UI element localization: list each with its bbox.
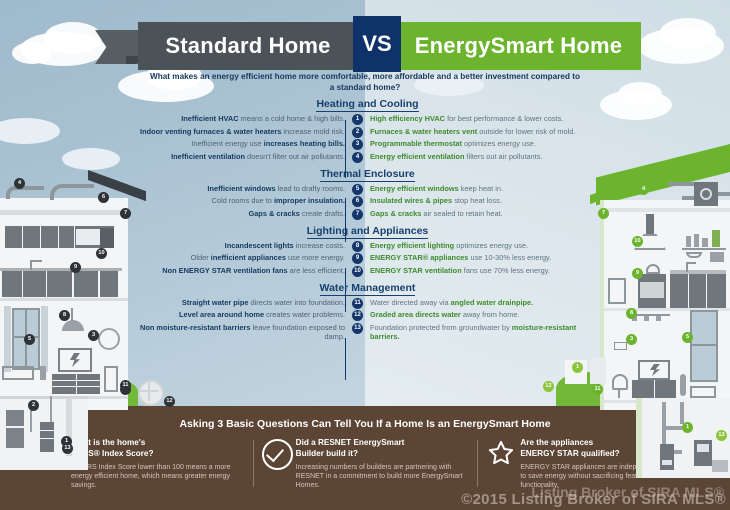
questions-title: Asking 3 Basic Questions Can Tell You If… (0, 410, 730, 430)
energysmart-home-basement: 1 (636, 398, 730, 490)
badge-13: 13 (716, 430, 727, 441)
standard-text: Indoor venting furnaces & water heaters … (140, 127, 351, 136)
energysmart-text: Water directed away via angled water dra… (364, 298, 595, 307)
question-line-1: Did a RESNET EnergySmart (296, 438, 469, 449)
standard-home-bar: Standard Home (138, 22, 358, 70)
small-house-icon (590, 358, 606, 384)
section-thermal-enclosure: Thermal Enclosure Inefficient windows le… (140, 168, 595, 220)
comparison-row: Indoor venting furnaces & water heaters … (140, 127, 595, 138)
badge-11: 11 (592, 384, 603, 395)
star-icon (486, 438, 520, 491)
badge-1: 1 (572, 362, 583, 373)
comparison-row: Inefficient HVAC means a cold home & hig… (140, 114, 595, 125)
standard-text: Straight water pipe directs water into f… (140, 298, 351, 307)
energysmart-home-illustration: 4 7 10 9 8 3 5 11 (590, 170, 730, 410)
standard-home-illustration: 4 6 7 10 9 8 3 5 11 (0, 170, 140, 410)
comparison-row: Non moisture-resistant barriers leave fo… (140, 323, 595, 342)
row-number-badge: 5 (351, 184, 364, 195)
standard-text: Inefficient HVAC means a cold home & hig… (140, 114, 351, 123)
energysmart-text: Energy efficient windows keep heat in. (364, 184, 595, 193)
row-number-badge: 9 (351, 253, 364, 264)
energysmart-text: Graded area directs water away from home… (364, 310, 595, 319)
section-water-management: Water Management Straight water pipe dir… (140, 282, 595, 342)
banner-subtitle: What makes an energy efficient home more… (150, 72, 580, 93)
badge-4: 4 (14, 178, 25, 189)
energysmart-text: ENERGY STAR ventilation fans use 70% les… (364, 266, 595, 275)
question-heading: What is the home's HERS® Index Score? (71, 438, 244, 459)
comparison-row: Cold rooms due to improper insulation. 6… (140, 196, 595, 207)
question-line-2: Builder build it? (296, 449, 469, 460)
row-number-badge: 10 (351, 266, 364, 277)
cloud-icon (62, 148, 120, 170)
energysmart-home-bar: EnergySmart Home (396, 22, 641, 70)
comparison-row: Inefficient ventilation doesn't filter o… (140, 152, 595, 163)
comparison-row: Level area around home creates water pro… (140, 310, 595, 321)
comparison-row: Incandescent lights increase costs. 8 En… (140, 241, 595, 252)
comparison-row: Inefficient windows lead to drafty rooms… (140, 184, 595, 195)
energysmart-home-label: EnergySmart Home (396, 22, 641, 70)
title-banner: Standard Home EnergySmart Home VS (95, 22, 640, 70)
energysmart-text: Furnaces & water heaters vent outside fo… (364, 127, 595, 136)
badge-8: 8 (626, 308, 637, 319)
standard-text: Inefficient energy use increases heating… (140, 139, 351, 148)
badge-9: 9 (70, 262, 81, 273)
question-heading: Did a RESNET EnergySmart Builder build i… (296, 438, 469, 459)
standard-text: Non moisture-resistant barriers leave fo… (140, 323, 351, 342)
drain-grate-line (148, 381, 150, 401)
badge-7: 7 (598, 208, 609, 219)
energysmart-text: Programmable thermostat optimizes energy… (364, 139, 595, 148)
badge-12: 12 (543, 381, 554, 392)
badge-8: 8 (59, 310, 70, 321)
standard-home-basement: 2 1 (0, 390, 95, 480)
badge-5: 5 (24, 334, 35, 345)
standard-text: Level area around home creates water pro… (140, 310, 351, 319)
energysmart-text: Foundation protected from groundwater by… (364, 323, 595, 342)
questions-columns: 65 What is the home's HERS® Index Score?… (0, 438, 730, 491)
section-heading: Water Management (140, 282, 595, 295)
vs-label: VS (353, 16, 401, 72)
badge-13: 13 (62, 443, 73, 454)
badge-4: 4 (638, 184, 649, 195)
row-number-badge: 2 (351, 127, 364, 138)
infographic-root: Standard Home EnergySmart Home VS What m… (0, 0, 730, 510)
comparison-row: Non ENERGY STAR ventilation fans are les… (140, 266, 595, 277)
row-number-badge: 3 (351, 139, 364, 150)
badge-2: 2 (28, 400, 39, 411)
standard-text: Inefficient windows lead to drafty rooms… (140, 184, 351, 193)
row-number-badge: 12 (351, 310, 364, 321)
question-card-text: What is the home's HERS® Index Score? A … (71, 438, 244, 491)
watermark: ©2015 Listing Broker of SIRA MLS® (461, 491, 726, 508)
question-answer: Increasing numbers of builders are partn… (296, 463, 469, 491)
row-number-badge: 1 (351, 114, 364, 125)
energysmart-text: High efficiency HVAC for best performanc… (364, 114, 595, 123)
row-number-badge: 8 (351, 241, 364, 252)
standard-text: Incandescent lights increase costs. (140, 241, 351, 250)
section-heading: Lighting and Appliances (140, 225, 595, 238)
question-answer: A HERS Index Score lower than 100 means … (71, 463, 244, 491)
standard-home-label: Standard Home (138, 22, 358, 70)
section-lighting-and-appliances: Lighting and Appliances Incandescent lig… (140, 225, 595, 277)
badge-12: 12 (164, 396, 175, 407)
badge-10: 10 (632, 236, 643, 247)
badge-9: 9 (632, 268, 643, 279)
standard-text: Non ENERGY STAR ventilation fans are les… (140, 266, 351, 275)
standard-text: Inefficient ventilation doesn't filter o… (140, 152, 351, 161)
badge-11: 11 (120, 380, 131, 391)
energysmart-text: Energy efficient lighting optimizes ener… (364, 241, 595, 250)
badge-5: 5 (682, 332, 693, 343)
cloud-icon (618, 82, 662, 106)
energysmart-text: Energy efficient ventilation filters out… (364, 152, 595, 161)
row-number-badge: 11 (351, 298, 364, 309)
comparison-row: Inefficient energy use increases heating… (140, 139, 595, 150)
row-number-badge: 4 (351, 152, 364, 163)
cloud-icon (12, 42, 52, 64)
row-number-badge: 7 (351, 209, 364, 220)
badge-3: 3 (88, 330, 99, 341)
comparison-content: Heating and Cooling Inefficient HVAC mea… (140, 98, 595, 346)
question-line-2: HERS® Index Score? (71, 449, 244, 460)
check-circle-icon (262, 438, 296, 491)
standard-text: Gaps & cracks create drafts. (140, 209, 351, 218)
badge-3: 3 (626, 334, 637, 345)
row-number-badge: 13 (351, 323, 364, 334)
vs-badge: VS (353, 16, 401, 72)
section-heading: Heating and Cooling (140, 98, 595, 111)
question-card-text: Did a RESNET EnergySmart Builder build i… (296, 438, 469, 491)
standard-text: Older inefficient appliances use more en… (140, 253, 351, 262)
drain-grate-icon (138, 380, 164, 406)
badge-1: 1 (682, 422, 693, 433)
badge-10: 10 (96, 248, 107, 259)
question-card-resnet[interactable]: Did a RESNET EnergySmart Builder build i… (253, 438, 478, 491)
section-heading: Thermal Enclosure (140, 168, 595, 181)
cloud-icon (660, 18, 716, 48)
question-line-1: What is the home's (71, 438, 244, 449)
comparison-row: Straight water pipe directs water into f… (140, 298, 595, 309)
energysmart-text: Insulated wires & pipes stop heat loss. (364, 196, 595, 205)
standard-text: Cold rooms due to improper insulation. (140, 196, 351, 205)
badge-6: 6 (98, 192, 109, 203)
section-heating-and-cooling: Heating and Cooling Inefficient HVAC mea… (140, 98, 595, 163)
row-number-badge: 6 (351, 196, 364, 207)
cloud-icon (44, 22, 102, 54)
badge-7: 7 (120, 208, 131, 219)
energysmart-text: Gaps & cracks air sealed to retain heat. (364, 209, 595, 218)
energysmart-text: ENERGY STAR® appliances use 10-30% less … (364, 253, 595, 262)
comparison-row: Gaps & cracks create drafts. 7 Gaps & cr… (140, 209, 595, 220)
comparison-row: Older inefficient appliances use more en… (140, 253, 595, 264)
